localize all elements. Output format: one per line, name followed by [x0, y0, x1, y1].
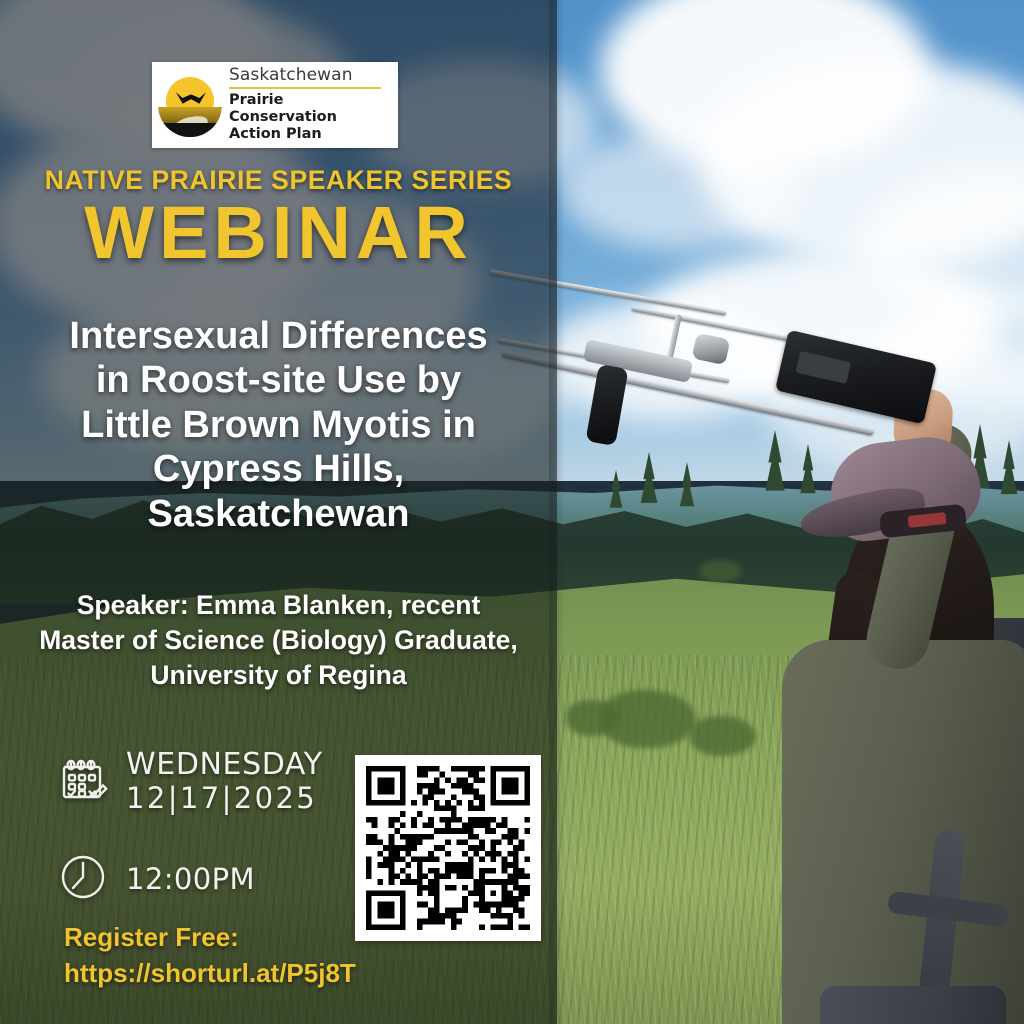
prairie-sun-bird-emblem-icon	[158, 73, 222, 137]
register-url[interactable]: https://shorturl.at/P5j8T	[64, 956, 524, 992]
title-line: in Roost-site Use by	[18, 358, 539, 402]
qr-code-image	[366, 766, 530, 930]
date-text: WEDNESDAY 12|17|2025	[126, 748, 323, 814]
title-line: Saskatchewan	[18, 492, 539, 536]
title-line: Intersexual Differences	[18, 314, 539, 358]
event-type-heading: WEBINAR	[0, 196, 557, 270]
time-text: 12:00PM	[126, 863, 255, 895]
jacket	[782, 640, 1024, 1024]
speaker-line: University of Regina	[14, 658, 543, 693]
clock-icon	[58, 852, 108, 907]
page-title: Intersexual Differences in Roost-site Us…	[18, 314, 539, 536]
logo-line-1: Saskatchewan	[229, 67, 392, 84]
calendar-icon	[58, 754, 108, 809]
title-line: Little Brown Myotis in	[18, 403, 539, 447]
registration-block[interactable]: Register Free: https://shorturl.at/P5j8T	[64, 920, 524, 992]
shrub	[566, 700, 620, 736]
registration-qr-code[interactable]	[355, 755, 541, 941]
logo-line-2: Prairie Conservation Action Plan	[229, 92, 392, 143]
telemetry-receiver	[775, 330, 937, 425]
shrub	[690, 716, 756, 756]
schedule-block: WEDNESDAY 12|17|2025 12:00PM	[58, 748, 358, 907]
foreground-shape	[158, 123, 222, 137]
day-of-week: WEDNESDAY	[126, 747, 323, 782]
cloud	[560, 130, 800, 250]
time-row: 12:00PM	[58, 852, 358, 907]
shrub	[700, 560, 742, 582]
speaker-line: Master of Science (Biology) Graduate,	[14, 623, 543, 658]
pants	[820, 986, 1006, 1024]
organization-logo: Saskatchewan Prairie Conservation Action…	[152, 62, 398, 148]
logo-divider	[229, 87, 381, 89]
antenna-hub	[692, 333, 731, 366]
speaker-line: Speaker: Emma Blanken, recent	[14, 588, 543, 623]
poster-content: Saskatchewan Prairie Conservation Action…	[0, 0, 557, 1024]
researcher-figure	[760, 400, 1024, 1024]
register-label: Register Free:	[64, 920, 524, 956]
speaker-info: Speaker: Emma Blanken, recent Master of …	[14, 588, 543, 694]
time-value: 12:00PM	[126, 862, 255, 896]
webinar-poster: Saskatchewan Prairie Conservation Action…	[0, 0, 1024, 1024]
logo-wordmark: Saskatchewan Prairie Conservation Action…	[229, 67, 392, 143]
title-line: Cypress Hills,	[18, 447, 539, 491]
date-value: 12|17|2025	[126, 781, 317, 815]
date-row: WEDNESDAY 12|17|2025	[58, 748, 358, 814]
